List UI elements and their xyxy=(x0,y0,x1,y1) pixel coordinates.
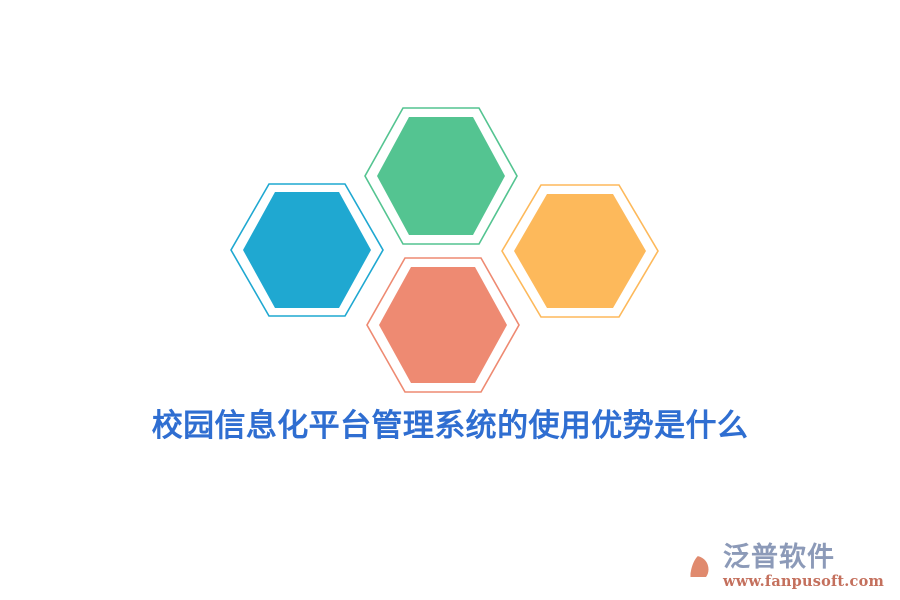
page-title-container: 校园信息化平台管理系统的使用优势是什么 xyxy=(0,404,900,448)
green-hexagon xyxy=(365,108,517,244)
brand-url: www.fanpusoft.com xyxy=(723,573,884,590)
green-hexagon-fill xyxy=(377,117,505,235)
page-root: 校园信息化平台管理系统的使用优势是什么 泛普软件 www.fanpusoft.c… xyxy=(0,0,900,600)
orange-hexagon-fill xyxy=(514,194,646,308)
salmon-hexagon-fill xyxy=(379,267,507,383)
hexagon-cluster-graphic xyxy=(0,0,900,410)
fanpu-leaf-logo-icon xyxy=(677,547,717,587)
salmon-hexagon xyxy=(367,258,519,392)
brand-name: 泛普软件 xyxy=(723,543,835,572)
brand-watermark: 泛普软件 www.fanpusoft.com xyxy=(677,543,884,590)
orange-hexagon xyxy=(502,185,658,317)
hexagon-cluster-svg xyxy=(0,0,900,410)
page-title: 校园信息化平台管理系统的使用优势是什么 xyxy=(152,404,749,448)
brand-text-block: 泛普软件 www.fanpusoft.com xyxy=(723,543,884,590)
blue-hexagon-fill xyxy=(243,192,371,308)
blue-hexagon xyxy=(231,184,383,316)
fanpu-leaf-logo-svg xyxy=(677,547,717,587)
